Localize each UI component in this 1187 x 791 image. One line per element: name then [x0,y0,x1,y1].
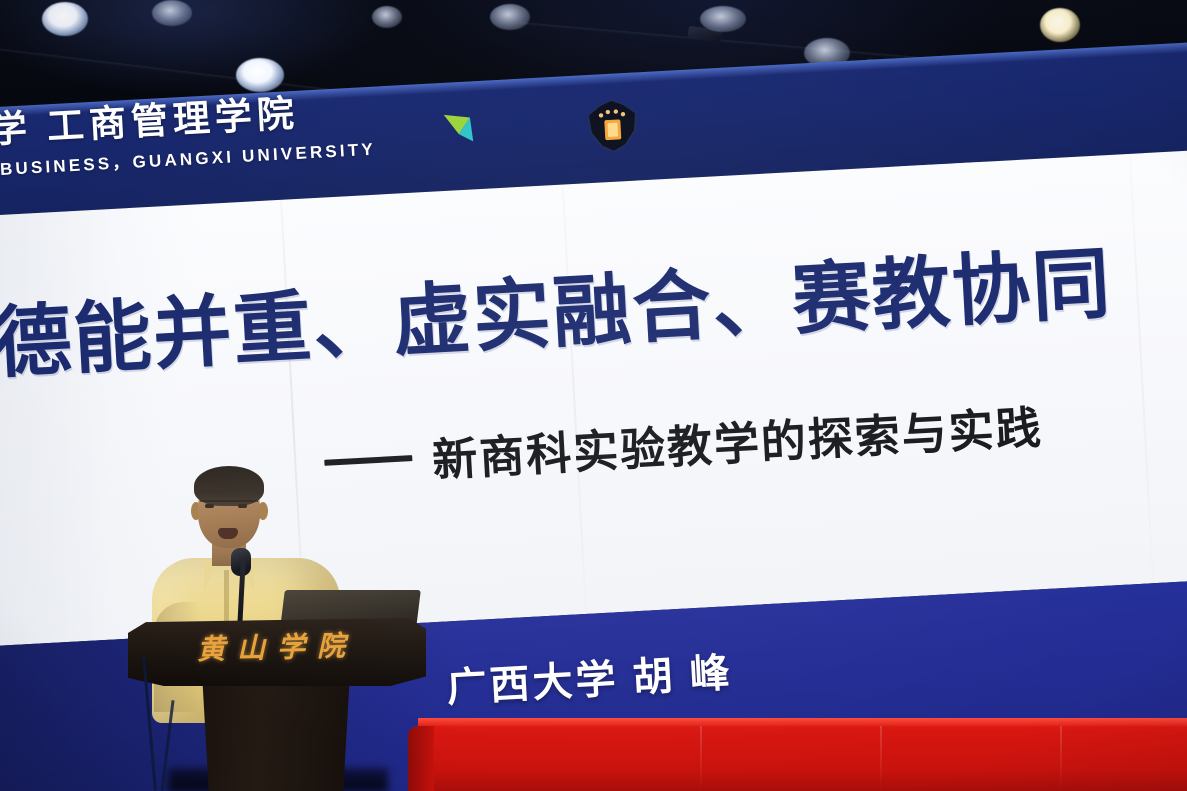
red-table-fold [880,726,882,791]
lantern-emblem-icon [583,96,642,155]
podium-column [196,680,356,791]
podium-institution-label: 黄山学院 [128,622,427,669]
red-covered-table [418,718,1187,791]
red-table-left-edge [408,726,434,791]
presenter-eye-right [238,504,247,508]
red-table-fold [1060,726,1062,791]
stage-photo-scene: 西大学 工商管理学院 OOL OF BUSINESS，GUANGXI UNIVE… [0,0,1187,791]
leaf-icon [440,111,488,159]
red-table-lip [418,718,1187,726]
presenter-eye-left [205,504,214,508]
presenter-mouth [218,528,238,539]
red-table-fold [700,726,702,791]
